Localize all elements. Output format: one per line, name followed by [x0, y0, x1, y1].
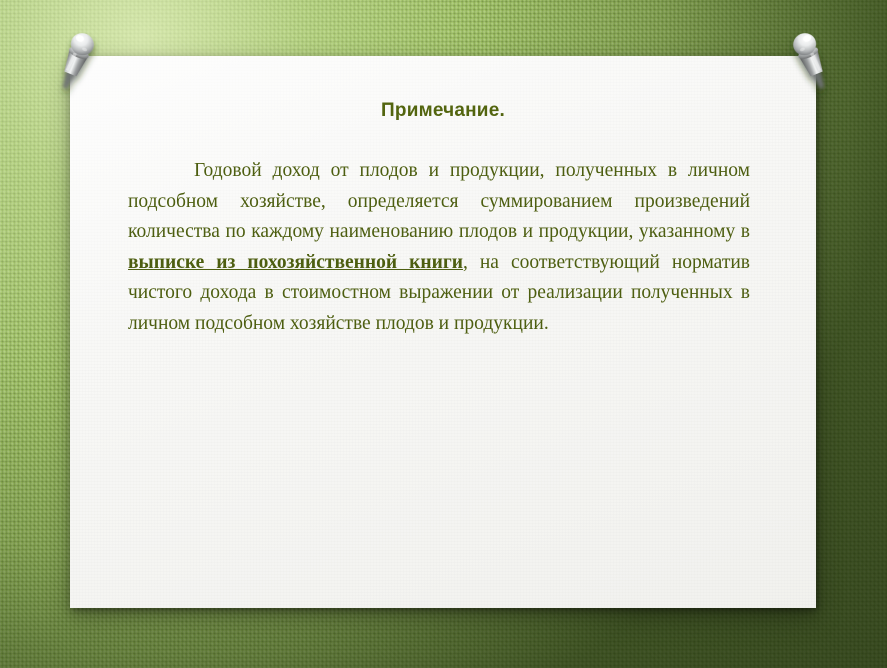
page-title: Примечание.	[128, 100, 758, 122]
note-body-part-1: Годовой доход от плодов и продукции, пол…	[128, 160, 750, 242]
note-body-reference-emphasis: выписке из похозяйственной книги	[128, 252, 463, 273]
slide-canvas: Примечание. Годовой доход от плодов и пр…	[0, 0, 887, 668]
paper-content: Примечание. Годовой доход от плодов и пр…	[70, 56, 816, 339]
paper-sheet: Примечание. Годовой доход от плодов и пр…	[70, 56, 816, 608]
note-body-paragraph: Годовой доход от плодов и продукции, пол…	[128, 156, 758, 339]
